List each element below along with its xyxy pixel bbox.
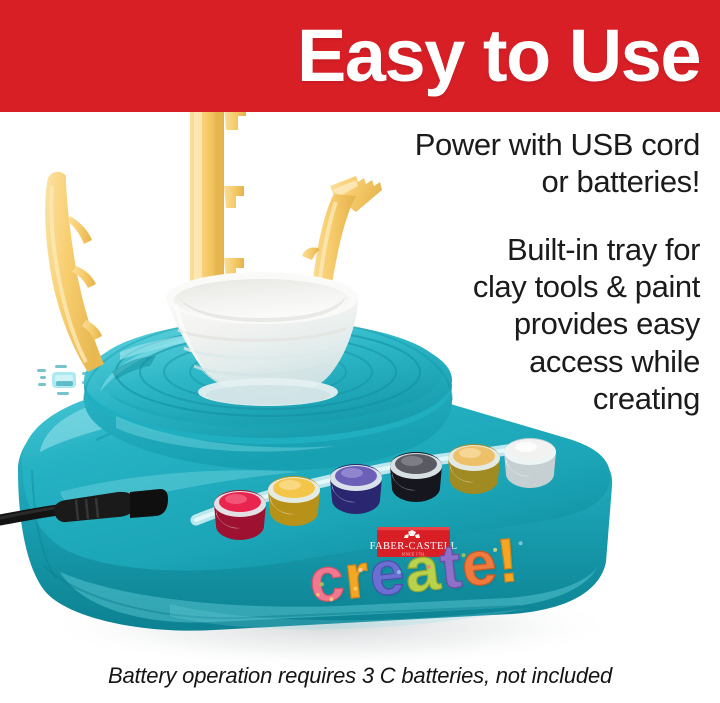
tray-copy-line-3: provides easy — [370, 305, 700, 342]
header-banner: Easy to Use — [0, 0, 720, 112]
power-copy-block: Power with USB cord or batteries! — [280, 126, 700, 200]
clay-tool-knife — [45, 172, 104, 372]
tray-copy-line-1: Built-in tray for — [370, 231, 700, 268]
battery-caption: Battery operation requires 3 C batteries… — [0, 663, 720, 689]
paint-pot-yellow — [268, 476, 320, 526]
banner-title: Easy to Use — [297, 19, 700, 93]
paint-pot-black — [390, 452, 442, 502]
product-marketing-image: FABER-CASTELL SINCE 1761 create! create! — [0, 0, 720, 703]
tray-copy-line-2: clay tools & paint — [370, 268, 700, 305]
power-copy-line-2: or batteries! — [280, 163, 700, 200]
tray-copy-line-5: creating — [370, 380, 700, 417]
tray-copy-block: Built-in tray for clay tools & paint pro… — [370, 231, 700, 417]
power-switch — [37, 365, 91, 395]
paint-pot-white — [504, 438, 556, 488]
paint-pot-red — [214, 490, 266, 540]
tray-copy-line-4: access while — [370, 343, 700, 380]
paint-pot-purple — [330, 464, 382, 514]
paint-pot-gold — [448, 444, 500, 494]
power-copy-line-1: Power with USB cord — [280, 126, 700, 163]
